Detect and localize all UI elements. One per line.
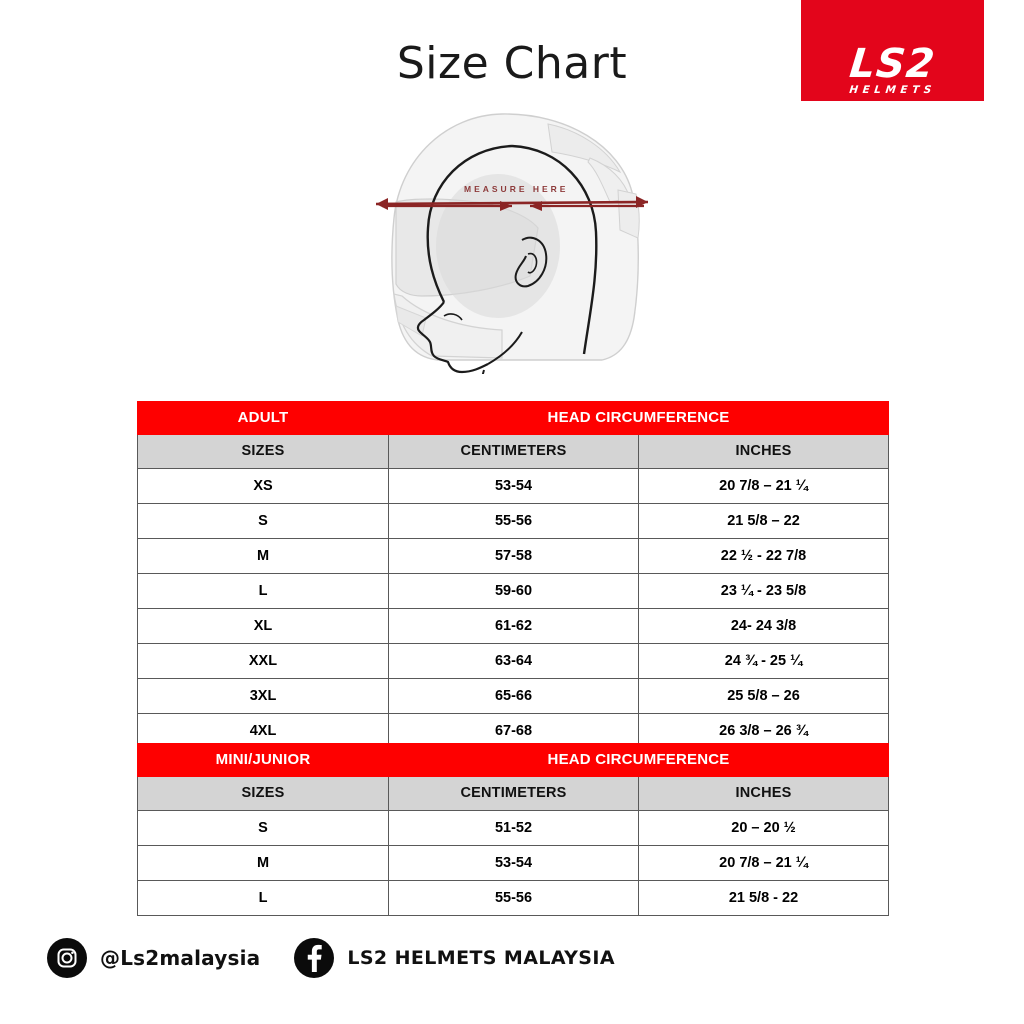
measure-arrow-head-left [376, 198, 388, 210]
measure-here-label: MEASURE HERE [464, 184, 568, 194]
cell-size: XXL [138, 644, 389, 679]
subhead-inches: INCHES [639, 777, 889, 811]
band-category: ADULT [138, 402, 389, 435]
subhead-inches: INCHES [639, 435, 889, 469]
band-category: MINI/JUNIOR [138, 744, 389, 777]
cell-inches: 22 ½ - 22 7/8 [639, 539, 889, 574]
table-row: XS 53-54 20 7/8 – 21 ¼ [138, 469, 889, 504]
helmet-illustration-svg [352, 106, 672, 374]
cell-size: S [138, 811, 389, 846]
table-subhead-row: SIZES CENTIMETERS INCHES [138, 435, 889, 469]
social-footer: @Ls2malaysia LS2 HELMETS MALAYSIA [47, 928, 615, 988]
table-row: M 57-58 22 ½ - 22 7/8 [138, 539, 889, 574]
neck-front [480, 370, 484, 374]
helmet-measurement-diagram: MEASURE HERE [352, 106, 672, 374]
table-row: L 55-56 21 5/8 - 22 [138, 881, 889, 916]
cell-cm: 63-64 [389, 644, 639, 679]
cell-cm: 51-52 [389, 811, 639, 846]
instagram-icon[interactable] [47, 938, 87, 978]
cell-inches: 25 5/8 – 26 [639, 679, 889, 714]
instagram-handle: @Ls2malaysia [100, 946, 260, 970]
cell-inches: 20 7/8 – 21 ¼ [639, 846, 889, 881]
cell-cm: 53-54 [389, 469, 639, 504]
cell-size: XS [138, 469, 389, 504]
table-row: XL 61-62 24- 24 3/8 [138, 609, 889, 644]
table-row: 3XL 65-66 25 5/8 – 26 [138, 679, 889, 714]
band-measure: HEAD CIRCUMFERENCE [389, 402, 889, 435]
band-measure: HEAD CIRCUMFERENCE [389, 744, 889, 777]
cell-inches: 21 5/8 – 22 [639, 504, 889, 539]
subhead-centimeters: CENTIMETERS [389, 435, 639, 469]
table-row: XXL 63-64 24 ¾ - 25 ¼ [138, 644, 889, 679]
cell-size: XL [138, 609, 389, 644]
subhead-sizes: SIZES [138, 777, 389, 811]
cell-size: 3XL [138, 679, 389, 714]
social-facebook[interactable]: LS2 HELMETS MALAYSIA [294, 938, 615, 978]
cell-size: L [138, 574, 389, 609]
social-instagram[interactable]: @Ls2malaysia [47, 938, 260, 978]
cell-inches: 24- 24 3/8 [639, 609, 889, 644]
table-band-row: MINI/JUNIOR HEAD CIRCUMFERENCE [138, 744, 889, 777]
subhead-sizes: SIZES [138, 435, 389, 469]
table-row: L 59-60 23 ¼ - 23 5/8 [138, 574, 889, 609]
adult-size-table: ADULT HEAD CIRCUMFERENCE SIZES CENTIMETE… [137, 401, 889, 749]
cell-cm: 57-58 [389, 539, 639, 574]
table-band-row: ADULT HEAD CIRCUMFERENCE [138, 402, 889, 435]
cell-inches: 20 7/8 – 21 ¼ [639, 469, 889, 504]
subhead-centimeters: CENTIMETERS [389, 777, 639, 811]
cell-inches: 20 – 20 ½ [639, 811, 889, 846]
cell-inches: 24 ¾ - 25 ¼ [639, 644, 889, 679]
facebook-icon[interactable] [294, 938, 334, 978]
table-row: S 55-56 21 5/8 – 22 [138, 504, 889, 539]
junior-size-table: MINI/JUNIOR HEAD CIRCUMFERENCE SIZES CEN… [137, 743, 889, 916]
cell-inches: 23 ¼ - 23 5/8 [639, 574, 889, 609]
cell-size: M [138, 846, 389, 881]
cell-cm: 55-56 [389, 881, 639, 916]
page-title: Size Chart [0, 38, 1024, 89]
facebook-page-name: LS2 HELMETS MALAYSIA [347, 947, 615, 969]
cell-size: L [138, 881, 389, 916]
cell-inches: 21 5/8 - 22 [639, 881, 889, 916]
cell-cm: 59-60 [389, 574, 639, 609]
cell-size: S [138, 504, 389, 539]
table-row: M 53-54 20 7/8 – 21 ¼ [138, 846, 889, 881]
cell-cm: 53-54 [389, 846, 639, 881]
cell-cm: 55-56 [389, 504, 639, 539]
table-subhead-row: SIZES CENTIMETERS INCHES [138, 777, 889, 811]
cell-size: M [138, 539, 389, 574]
head-shadow [436, 174, 560, 318]
cell-cm: 65-66 [389, 679, 639, 714]
table-row: S 51-52 20 – 20 ½ [138, 811, 889, 846]
cell-cm: 61-62 [389, 609, 639, 644]
